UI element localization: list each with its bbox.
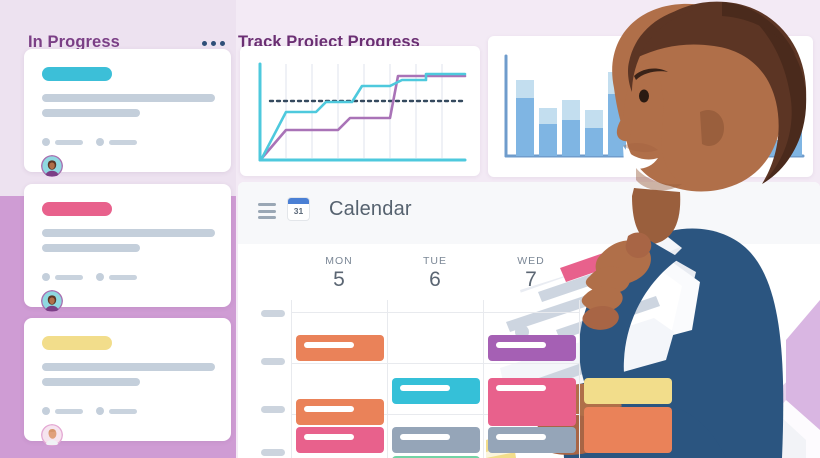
calendar-event[interactable] (296, 335, 384, 361)
calendar-event[interactable] (392, 427, 480, 453)
task-card[interactable] (24, 49, 231, 172)
avatar[interactable] (41, 424, 63, 446)
calendar-grid-line (291, 300, 292, 458)
task-card-line-primary (42, 229, 215, 237)
calendar-day-header: MON 5 (304, 255, 374, 292)
eye (639, 90, 649, 103)
calendar-icon-day: 31 (288, 204, 309, 219)
ellipsis-icon[interactable] (202, 41, 225, 46)
task-card-tag (42, 67, 112, 81)
calendar-event[interactable] (296, 399, 384, 425)
task-card[interactable] (24, 184, 231, 307)
calendar-title: Calendar (329, 198, 412, 221)
task-card-meta-2 (96, 273, 137, 281)
task-card-meta-1 (42, 407, 83, 415)
calendar-event[interactable] (584, 378, 672, 404)
task-card-line-primary (42, 363, 215, 371)
calendar-time-slot (261, 358, 285, 365)
calendar-time-slot (261, 449, 285, 456)
calendar-time-slot (261, 406, 285, 413)
calendar-event[interactable] (584, 407, 672, 453)
burnup-step-chart (240, 46, 480, 176)
calendar-event[interactable] (488, 427, 576, 453)
screenshot-root: In Progress Track Project Progress (0, 0, 820, 458)
calendar-day-name: MON (304, 255, 374, 267)
task-card-tag (42, 202, 112, 216)
task-card-tag (42, 336, 112, 350)
calendar-day-number: 7 (496, 268, 566, 292)
task-card-meta-1 (42, 273, 83, 281)
calendar-time-slot (261, 310, 285, 317)
calendar-icon: 31 (288, 198, 309, 220)
task-card-line-secondary (42, 378, 140, 386)
task-card-line-secondary (42, 109, 140, 117)
calendar-grid-line (579, 300, 580, 458)
hamburger-icon[interactable] (258, 203, 276, 223)
task-card-meta-1 (42, 138, 83, 146)
calendar-event[interactable] (296, 427, 384, 453)
calendar-grid-line (291, 363, 580, 364)
burnup-step-chart-panel (240, 46, 480, 176)
task-card-meta-2 (96, 407, 137, 415)
calendar-day-number: 6 (400, 268, 470, 292)
calendar-grid-line (387, 300, 388, 458)
task-card-line-primary (42, 94, 215, 102)
calendar-day-number: 5 (304, 268, 374, 292)
calendar-day-name: WED (496, 255, 566, 267)
task-card-meta-2 (96, 138, 137, 146)
calendar-day-name: TUE (400, 255, 470, 267)
avatar[interactable] (41, 155, 63, 177)
task-card[interactable] (24, 318, 231, 441)
calendar-day-header: WED 7 (496, 255, 566, 292)
calendar-day-header: TUE 6 (400, 255, 470, 292)
calendar-event[interactable] (488, 378, 576, 426)
task-card-line-secondary (42, 244, 140, 252)
calendar-event[interactable] (488, 335, 576, 361)
calendar-grid-line (483, 300, 484, 458)
calendar-event[interactable] (392, 378, 480, 404)
calendar-grid-line (291, 312, 580, 313)
avatar[interactable] (41, 290, 63, 312)
